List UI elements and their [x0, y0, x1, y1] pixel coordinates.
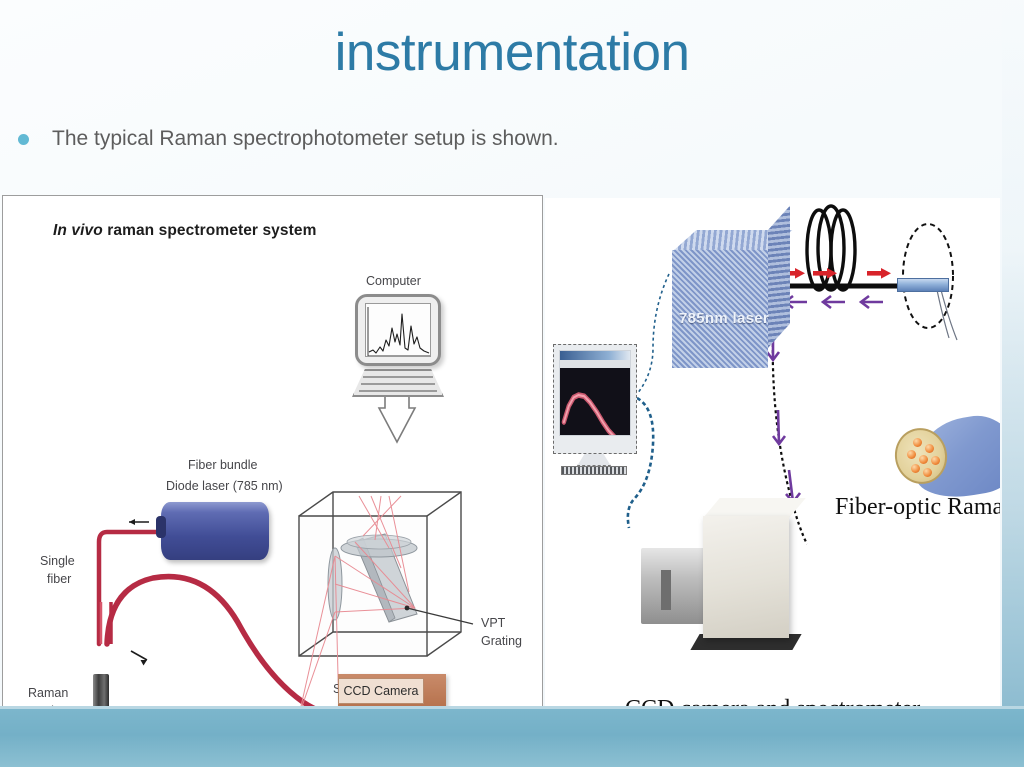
- figure-left-caption: In vivo raman spectrometer system: [53, 222, 317, 240]
- label-computer: Computer: [366, 274, 421, 288]
- label-diode-laser: Diode laser (785 nm): [166, 479, 283, 493]
- monitor-foot: [561, 466, 627, 475]
- label-ccd-camera: CCD Camera: [338, 678, 424, 704]
- laser-block-front-face: [672, 250, 768, 368]
- label-785nm-laser: 785nm laser: [678, 310, 770, 327]
- right-accent-band: [1002, 0, 1024, 709]
- label-raman-probe-line1: Raman: [28, 686, 68, 700]
- ccd-camera-box: CCD Camera: [338, 674, 446, 710]
- probe-ferrule: [897, 278, 949, 292]
- bullet-text: The typical Raman spectrophotometer setu…: [52, 126, 559, 152]
- ccd-camera-vent: [661, 570, 671, 610]
- fiber-core-dot: [911, 464, 920, 473]
- right-figure-monitor: [553, 344, 637, 454]
- label-vpt-line2: Grating: [481, 634, 522, 648]
- label-single-fiber-line1: Single: [40, 554, 75, 568]
- fiber-core-dot: [913, 438, 922, 447]
- keyboard-line: [359, 390, 437, 392]
- window-titlebar: [560, 351, 630, 360]
- fiber-core-dot: [919, 455, 928, 464]
- computer-screen-spectrum: [365, 303, 431, 357]
- footer-band: [0, 709, 1024, 767]
- figure-left-caption-italic: In vivo: [53, 222, 103, 239]
- bullet-marker-icon: [18, 134, 29, 145]
- ccd-camera-module: [641, 548, 705, 624]
- label-fiber-optic-raman-probe: Fiber-optic Raman probe: [835, 494, 1000, 521]
- bullet-list-item: The typical Raman spectrophotometer setu…: [18, 126, 559, 152]
- keyboard-line: [361, 383, 435, 385]
- right-figure-spectrum-display: [559, 350, 631, 436]
- fiber-path-graphic: [3, 196, 543, 711]
- computer-monitor: [355, 294, 441, 366]
- fiber-core-dot: [931, 456, 940, 465]
- spectrograph-graphic: [3, 196, 543, 711]
- spectrometer-top-face: [703, 498, 806, 518]
- keyboard-line: [363, 376, 433, 378]
- label-fiber-bundle: Fiber bundle: [188, 458, 258, 472]
- figure-left-caption-rest: raman spectrometer system: [107, 222, 316, 239]
- figure-in-vivo-raman-spectrometer-system[interactable]: In vivo raman spectrometer system: [2, 195, 543, 711]
- spectrometer-body: [703, 516, 789, 638]
- label-single-fiber-line2: fiber: [47, 572, 71, 586]
- fiber-core-dot: [907, 450, 916, 459]
- window-menubar: [560, 360, 630, 368]
- figure-fiber-optic-raman-system[interactable]: 785nm laser: [545, 198, 1000, 729]
- diode-laser-body: [161, 502, 269, 560]
- page-title: instrumentation: [0, 22, 1024, 84]
- laser-block-side-face: [768, 206, 790, 348]
- fiber-core-dot: [923, 468, 932, 477]
- slide-canvas: instrumentation The typical Raman spectr…: [0, 0, 1024, 767]
- label-vpt-line1: VPT: [481, 616, 505, 630]
- fiber-core-dot: [925, 444, 934, 453]
